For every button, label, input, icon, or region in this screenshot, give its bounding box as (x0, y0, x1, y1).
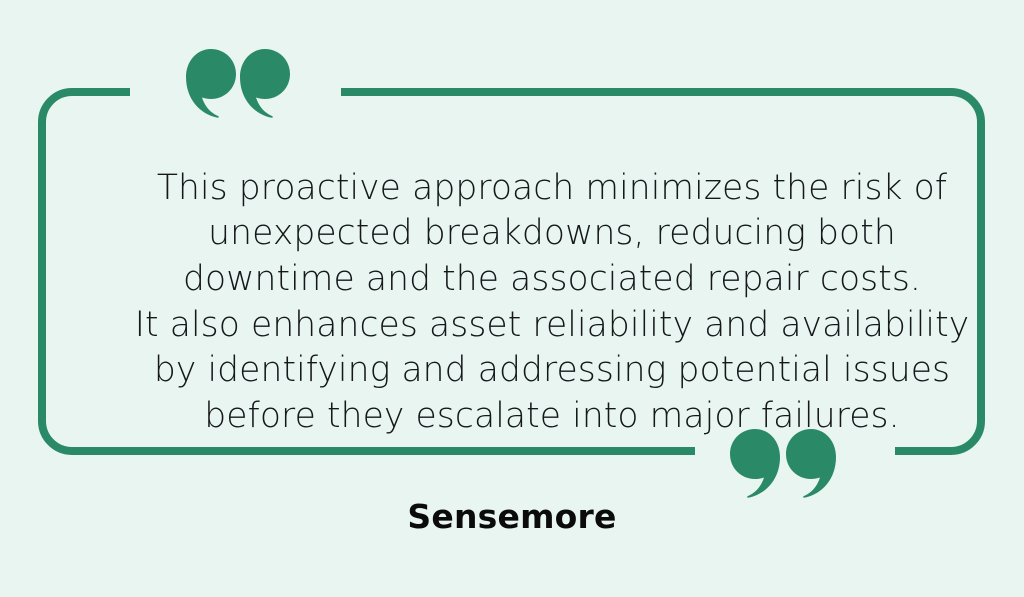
quote-text-block: This proactive approach minimizes the ri… (92, 166, 1012, 440)
quote-line: It also enhances asset reliability and a… (92, 303, 1012, 349)
quote-line: unexpected breakdowns, reducing both (92, 211, 1012, 257)
pullquote-card: This proactive approach minimizes the ri… (0, 0, 1024, 597)
open-quote-icon (186, 48, 292, 118)
quote-line: by identifying and addressing potential … (92, 348, 1012, 394)
quote-line: downtime and the associated repair costs… (92, 257, 1012, 303)
quote-line: This proactive approach minimizes the ri… (92, 166, 1012, 212)
attribution-name: Sensemore (0, 497, 1024, 536)
quote-line: before they escalate into major failures… (92, 394, 1012, 440)
